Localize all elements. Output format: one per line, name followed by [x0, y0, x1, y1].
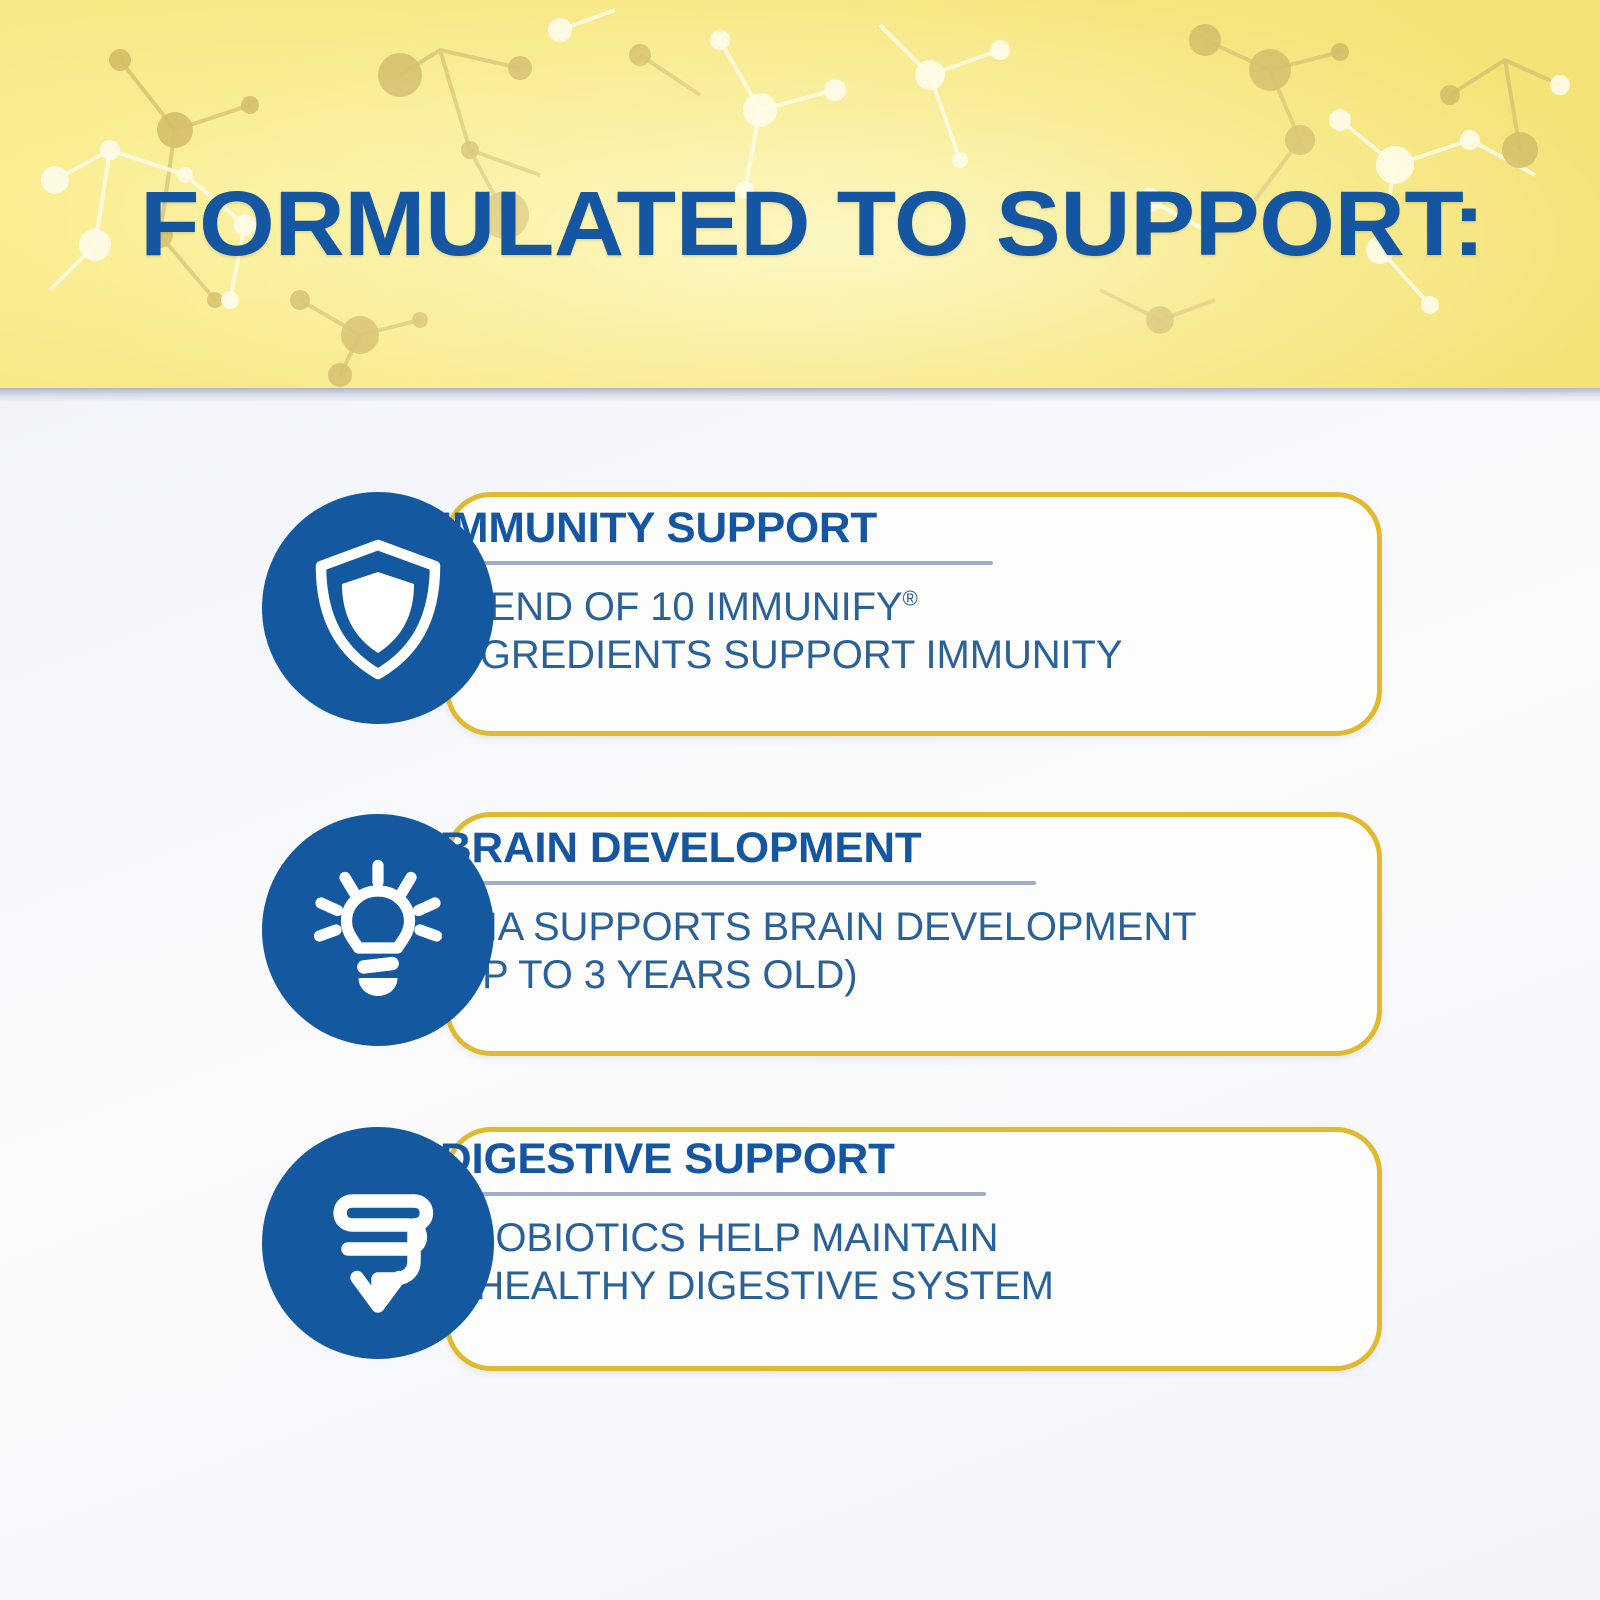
shield-icon [303, 533, 453, 683]
card-body-line-2: A HEALTHY DIGESTIVE SYSTEM [440, 1262, 1180, 1311]
card-body: DHA SUPPORTS BRAIN DEVELOPMENT (UP TO 3 … [440, 903, 1180, 1001]
card-divider [440, 881, 1036, 885]
card-text-brain: BRAIN DEVELOPMENT DHA SUPPORTS BRAIN DEV… [440, 826, 1180, 1000]
page-title: FORMULATED TO SUPPORT: [140, 178, 1485, 270]
benefits-list: IMMUNITY SUPPORT BLEND OF 10 IMMUNIFY® I… [0, 388, 1600, 1600]
card-heading: IMMUNITY SUPPORT [440, 506, 1195, 552]
card-divider [440, 561, 993, 565]
card-body: BLEND OF 10 IMMUNIFY® INGREDIENTS SUPPOR… [440, 583, 1180, 681]
card-body: PROBIOTICS HELP MAINTAIN A HEALTHY DIGES… [440, 1214, 1180, 1312]
header-banner: FORMULATED TO SUPPORT: [0, 0, 1600, 388]
registered-trademark-icon: ® [903, 587, 918, 610]
card-heading: BRAIN DEVELOPMENT [440, 826, 1195, 872]
lightbulb-icon [303, 855, 453, 1005]
icon-badge-brain [262, 814, 494, 1046]
card-body-line-2: (UP TO 3 YEARS OLD) [440, 951, 1180, 1000]
card-text-immunity: IMMUNITY SUPPORT BLEND OF 10 IMMUNIFY® I… [440, 506, 1180, 680]
card-divider [440, 1192, 986, 1196]
card-body-line-2: INGREDIENTS SUPPORT IMMUNITY [440, 631, 1180, 680]
icon-badge-digestive [262, 1127, 494, 1359]
intestine-arrow-icon [303, 1168, 453, 1318]
card-text-digestive: DIGESTIVE SUPPORT PROBIOTICS HELP MAINTA… [440, 1137, 1180, 1311]
card-body-line-1: BLEND OF 10 IMMUNIFY [440, 585, 903, 629]
card-body-line-1: PROBIOTICS HELP MAINTAIN [440, 1214, 1180, 1263]
promo-graphic: FORMULATED TO SUPPORT: IMMUNITY SUPPORT … [0, 0, 1600, 1600]
card-heading: DIGESTIVE SUPPORT [440, 1137, 1195, 1183]
icon-badge-immunity [262, 492, 494, 724]
card-body-line-1: DHA SUPPORTS BRAIN DEVELOPMENT [440, 903, 1180, 952]
